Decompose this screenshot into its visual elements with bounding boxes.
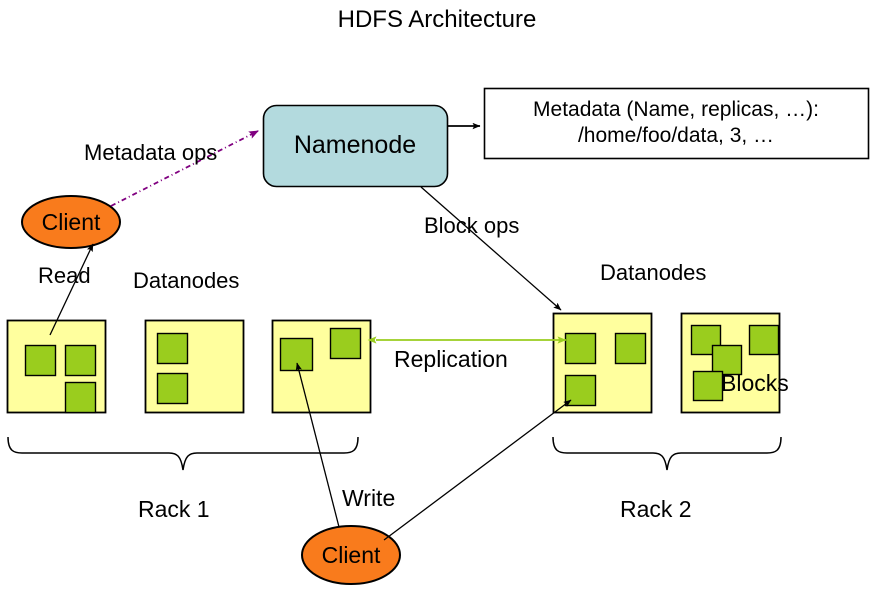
datanode-rack1-2[interactable] xyxy=(146,321,244,413)
block xyxy=(750,326,779,355)
hdfs-architecture-diagram: HDFS Architecture Namenode Metadata (Nam… xyxy=(0,0,874,604)
datanode-rack1-1[interactable] xyxy=(8,321,106,413)
client-top-ellipse[interactable] xyxy=(22,196,120,248)
replication-label: Replication xyxy=(394,348,508,371)
block xyxy=(26,346,56,376)
block xyxy=(566,334,596,364)
read-label: Read xyxy=(38,265,91,287)
block-ops-label: Block ops xyxy=(424,215,519,237)
write-remote-arrow xyxy=(384,400,571,540)
block xyxy=(158,334,188,364)
metadata-ops-label: Metadata ops xyxy=(84,142,217,164)
block xyxy=(281,339,313,371)
blocks-label: Blocks xyxy=(721,372,789,395)
page-title: HDFS Architecture xyxy=(0,8,874,32)
metadata-box[interactable] xyxy=(485,89,869,159)
rack2-brace xyxy=(553,437,781,470)
write-label: Write xyxy=(342,487,395,510)
block xyxy=(616,334,646,364)
block-ops-arrow xyxy=(421,187,561,310)
datanodes-left-label: Datanodes xyxy=(133,270,239,292)
rack1-label: Rack 1 xyxy=(138,498,210,521)
block xyxy=(66,383,96,413)
block xyxy=(158,374,188,404)
datanode-rack2-1[interactable] xyxy=(554,314,652,413)
client-bottom-ellipse[interactable] xyxy=(302,526,400,584)
datanodes-right-label: Datanodes xyxy=(600,262,706,284)
block xyxy=(66,346,96,376)
block xyxy=(331,329,361,359)
block xyxy=(694,372,723,401)
datanode-rack1-3[interactable] xyxy=(273,321,371,413)
diagram-vector-layer xyxy=(0,0,874,604)
datanode-rack2-2[interactable] xyxy=(682,314,780,413)
rack1-brace xyxy=(8,437,358,470)
rack2-label: Rack 2 xyxy=(620,498,692,521)
namenode-box[interactable] xyxy=(264,106,448,187)
